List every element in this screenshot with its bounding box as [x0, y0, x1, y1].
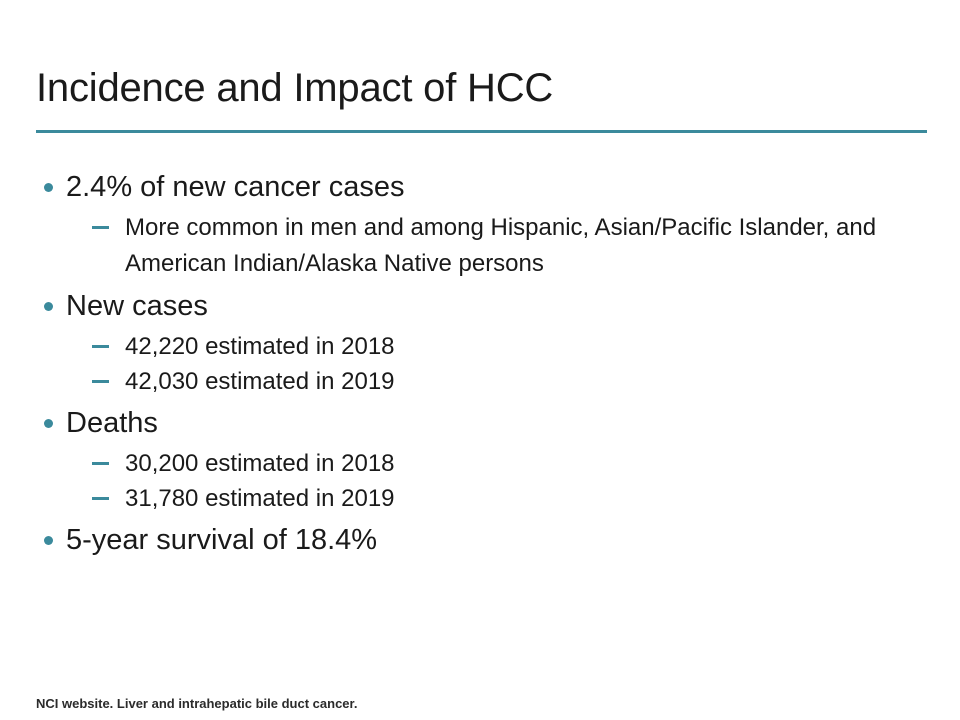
list-item: 42,220 estimated in 2018 — [36, 329, 927, 364]
presentation-slide: Incidence and Impact of HCC 2.4% of new … — [0, 0, 960, 720]
list-item: 2.4% of new cancer cases — [36, 166, 927, 209]
list-item: Deaths — [36, 402, 927, 445]
title-divider — [36, 130, 927, 133]
bullet-dash-icon — [92, 497, 109, 500]
bullet-dash-icon — [92, 345, 109, 348]
list-item-label: Deaths — [66, 407, 158, 439]
list-item: 5-year survival of 18.4% — [36, 519, 927, 562]
list-item-label: 2.4% of new cancer cases — [66, 171, 405, 203]
list-item-label: New cases — [66, 290, 208, 322]
bullet-dot-icon — [44, 302, 53, 311]
list-item-label: 31,780 estimated in 2019 — [125, 485, 395, 512]
bullet-dash-icon — [92, 226, 109, 229]
list-item: More common in men and among Hispanic, A… — [36, 210, 927, 282]
list-item-label: More common in men and among Hispanic, A… — [125, 214, 876, 277]
list-item: New cases — [36, 285, 927, 328]
page-title: Incidence and Impact of HCC — [36, 64, 927, 112]
source-footnote: NCI website. Liver and intrahepatic bile… — [36, 695, 357, 712]
bullet-dot-icon — [44, 183, 53, 192]
list-item: 31,780 estimated in 2019 — [36, 481, 927, 516]
bullet-dash-icon — [92, 462, 109, 465]
list-item: 30,200 estimated in 2018 — [36, 446, 927, 481]
list-item-label: 42,030 estimated in 2019 — [125, 368, 395, 395]
list-item-label: 42,220 estimated in 2018 — [125, 333, 395, 360]
bullet-dot-icon — [44, 536, 53, 545]
list-item-label: 30,200 estimated in 2018 — [125, 450, 395, 477]
bullet-dash-icon — [92, 380, 109, 383]
slide-body: 2.4% of new cancer cases More common in … — [36, 166, 927, 563]
slide-title-block: Incidence and Impact of HCC — [36, 64, 927, 112]
list-item: 42,030 estimated in 2019 — [36, 364, 927, 399]
list-item-label: 5-year survival of 18.4% — [66, 524, 377, 556]
bullet-dot-icon — [44, 419, 53, 428]
